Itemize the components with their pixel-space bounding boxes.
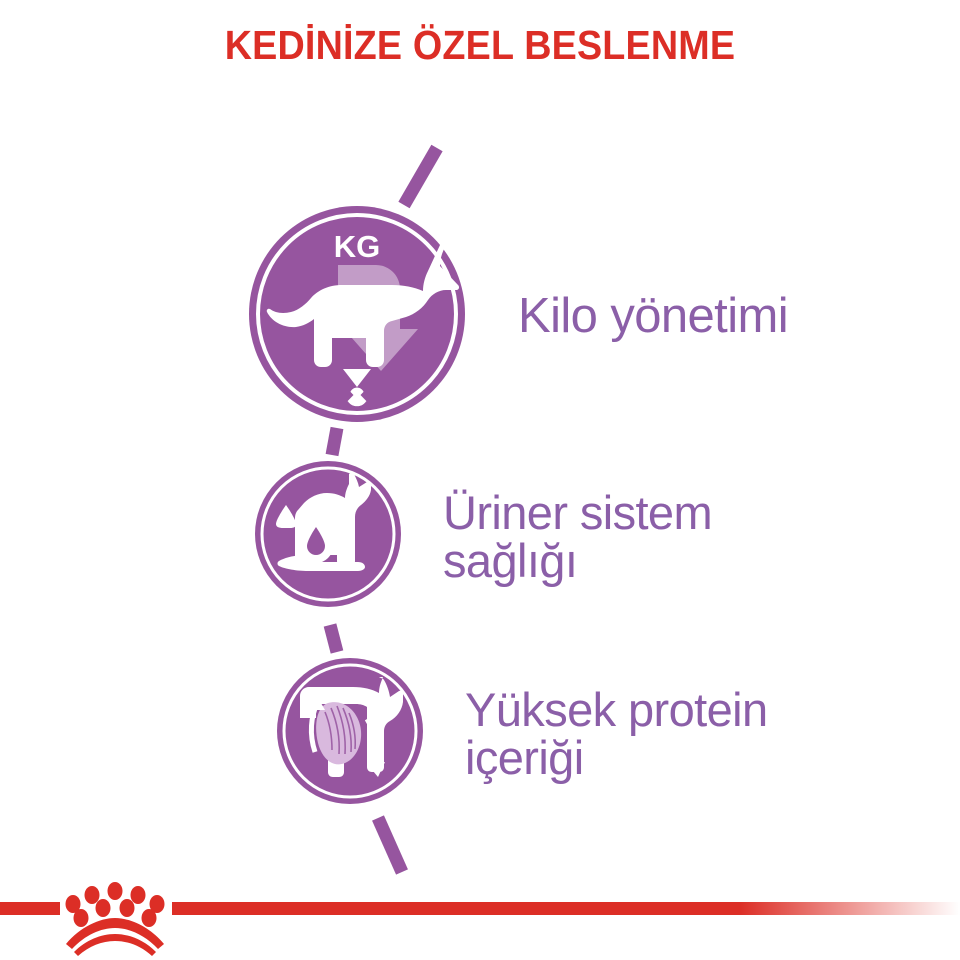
benefit-row-weight-management: KG bbox=[245, 205, 788, 428]
infographic-page: KEDİNİZE ÖZEL BESLENME KG bbox=[0, 0, 960, 960]
connector-dash-2-3 bbox=[330, 625, 337, 652]
benefit-label-weight-management: Kilo yönetimi bbox=[518, 292, 788, 342]
footer bbox=[0, 860, 960, 960]
connector-dash-top bbox=[404, 148, 437, 205]
weight-management-icon: KG bbox=[245, 205, 470, 428]
page-title: KEDİNİZE ÖZEL BESLENME bbox=[38, 22, 921, 69]
royal-canin-crown-logo bbox=[66, 882, 165, 956]
connector-dash-1-2 bbox=[332, 428, 337, 455]
benefit-row-high-protein: Yüksek protein içeriği bbox=[275, 655, 768, 812]
urinary-health-icon bbox=[253, 458, 403, 615]
footer-rule-right bbox=[172, 902, 960, 915]
kg-badge-label: KG bbox=[334, 229, 381, 264]
footer-rule-left bbox=[0, 902, 60, 915]
benefit-row-urinary-health: Üriner sistem sağlığı bbox=[253, 458, 712, 615]
benefit-label-urinary-health: Üriner sistem sağlığı bbox=[443, 489, 712, 585]
scale-ticks bbox=[349, 388, 364, 406]
benefit-label-high-protein: Yüksek protein içeriği bbox=[465, 686, 768, 782]
high-protein-icon bbox=[275, 655, 425, 812]
